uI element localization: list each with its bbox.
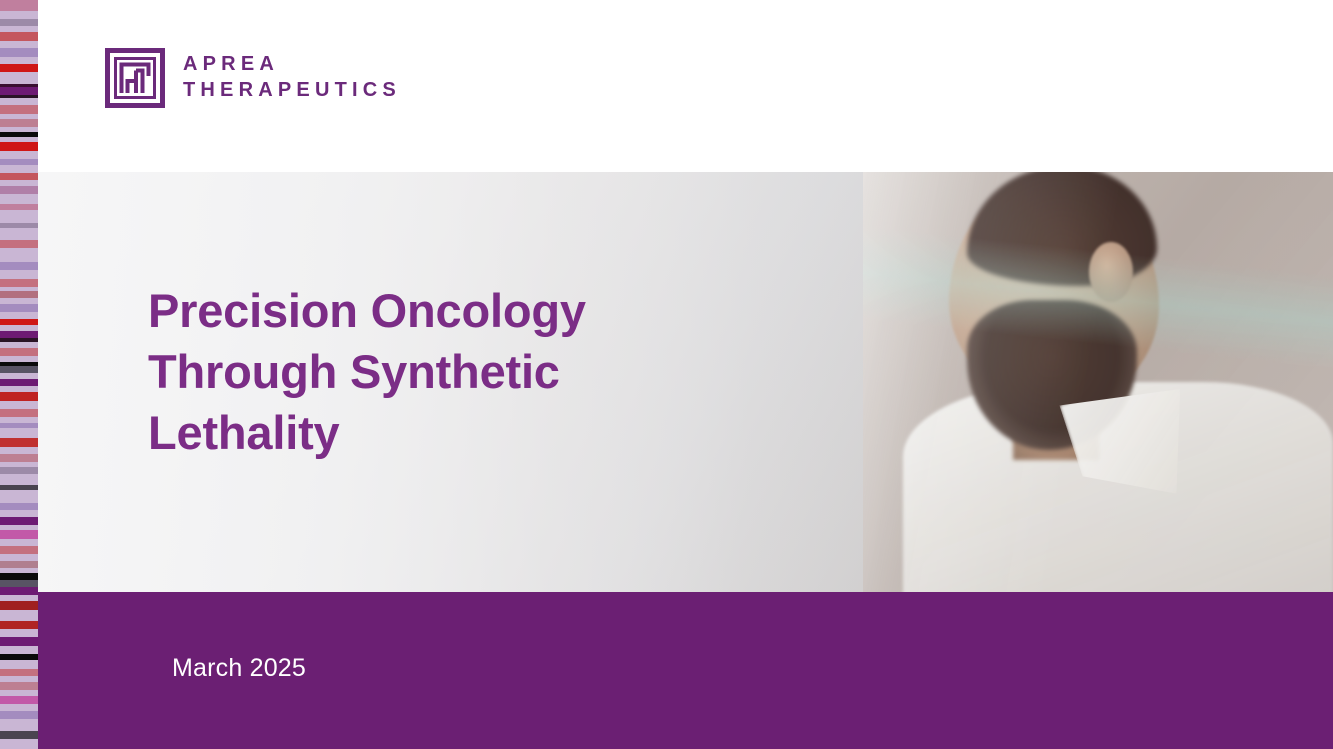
barcode-bar-60: [0, 438, 38, 447]
barcode-bar-29: [0, 210, 38, 223]
barcode-bar-4: [0, 32, 38, 42]
barcode-bar-6: [0, 48, 38, 57]
barcode-bar-11: [0, 87, 38, 94]
barcode-bar-87: [0, 646, 38, 654]
barcode-bar-2: [0, 19, 38, 26]
barcode-bar-67: [0, 490, 38, 503]
barcode-bar-65: [0, 474, 38, 485]
barcode-bar-16: [0, 119, 38, 127]
barcode-bar-1: [0, 11, 38, 19]
barcode-bar-95: [0, 704, 38, 711]
barcode-bar-82: [0, 601, 38, 610]
barcode-bar-9: [0, 72, 38, 84]
barcode-bar-14: [0, 105, 38, 114]
barcode-bar-21: [0, 151, 38, 159]
footer-band: March 2025: [38, 592, 1333, 749]
barcode-bar-94: [0, 696, 38, 704]
barcode-bar-64: [0, 467, 38, 474]
barcode-bar-98: [0, 731, 38, 739]
barcode-bar-40: [0, 304, 38, 312]
barcode-bar-27: [0, 194, 38, 204]
aprea-maze-square-logo-icon: [105, 48, 165, 108]
barcode-bar-47: [0, 348, 38, 356]
barcode-bar-26: [0, 186, 38, 194]
barcode-bar-24: [0, 173, 38, 180]
barcode-bar-76: [0, 561, 38, 568]
presentation-title-slide: APREA THERAPEUTICS Precision Oncology Th…: [0, 0, 1333, 749]
barcode-bar-99: [0, 739, 38, 748]
dna-barcode-strip: [0, 0, 38, 749]
barcode-bar-35: [0, 270, 38, 279]
barcode-bar-34: [0, 262, 38, 269]
header-band: APREA THERAPEUTICS: [38, 0, 1333, 172]
barcode-bar-83: [0, 610, 38, 621]
portrait-overlay-veil: [863, 172, 1333, 592]
barcode-bar-50: [0, 366, 38, 373]
barcode-bar-90: [0, 669, 38, 676]
barcode-bar-97: [0, 719, 38, 732]
wordmark-line-therapeutics: THERAPEUTICS: [183, 78, 401, 104]
wordmark-line-aprea: APREA: [183, 52, 401, 78]
barcode-bar-56: [0, 409, 38, 416]
barcode-bar-36: [0, 279, 38, 287]
barcode-bar-73: [0, 539, 38, 546]
barcode-bar-8: [0, 64, 38, 72]
barcode-bar-23: [0, 165, 38, 173]
aprea-wordmark: APREA THERAPEUTICS: [183, 52, 401, 103]
barcode-bar-0: [0, 0, 38, 11]
barcode-bar-85: [0, 629, 38, 636]
barcode-bar-55: [0, 401, 38, 409]
barcode-bar-62: [0, 454, 38, 462]
barcode-bar-52: [0, 379, 38, 386]
barcode-bar-59: [0, 428, 38, 438]
barcode-bar-79: [0, 580, 38, 587]
barcode-bar-92: [0, 682, 38, 690]
barcode-bar-31: [0, 228, 38, 240]
barcode-bar-86: [0, 637, 38, 646]
hero-band: Precision Oncology Through Synthetic Let…: [38, 172, 1333, 592]
scientist-portrait: [863, 172, 1333, 592]
barcode-bar-38: [0, 291, 38, 298]
barcode-bar-41: [0, 312, 38, 319]
barcode-bar-33: [0, 248, 38, 262]
barcode-bar-68: [0, 503, 38, 510]
barcode-bar-20: [0, 142, 38, 151]
barcode-bar-7: [0, 57, 38, 64]
barcode-bar-89: [0, 660, 38, 669]
barcode-bar-74: [0, 546, 38, 554]
aprea-logo-lockup[interactable]: APREA THERAPEUTICS: [105, 48, 401, 108]
presentation-date: March 2025: [172, 654, 306, 683]
barcode-bar-70: [0, 517, 38, 525]
barcode-bar-80: [0, 587, 38, 595]
barcode-bar-96: [0, 711, 38, 718]
barcode-bar-32: [0, 240, 38, 248]
slide-title: Precision Oncology Through Synthetic Let…: [148, 280, 708, 463]
barcode-bar-44: [0, 331, 38, 338]
barcode-bar-84: [0, 621, 38, 629]
barcode-bar-72: [0, 530, 38, 539]
barcode-bar-54: [0, 392, 38, 401]
